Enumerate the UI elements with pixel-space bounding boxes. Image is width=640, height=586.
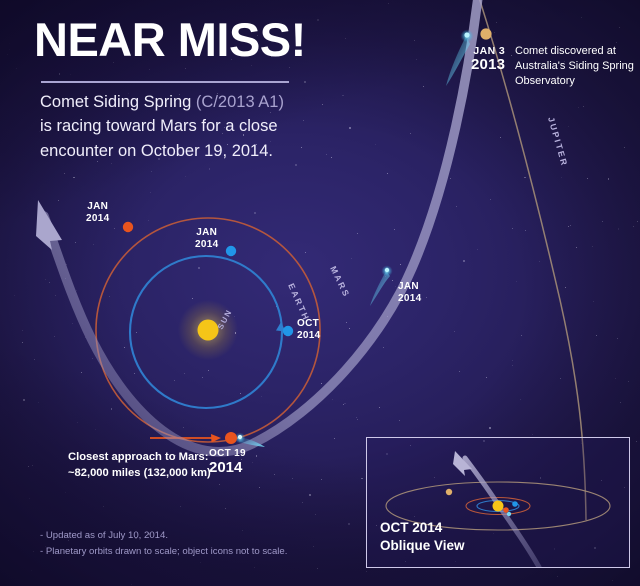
closest-approach-date-day: OCT 19 [209, 449, 246, 460]
subtitle-comet-name: Comet Siding Spring [40, 93, 196, 111]
oblique-view-caption-line-1: OCT 2014 [380, 519, 465, 537]
label-mars-jan-2014-month: JAN [87, 201, 108, 212]
closest-approach-date-year: 2014 [209, 460, 246, 476]
closest-approach-date: OCT 19 2014 [209, 449, 246, 475]
oblique-view-caption-line-2: Oblique View [380, 537, 465, 555]
footnote-updated: - Updated as of July 10, 2014. [40, 528, 287, 544]
closest-approach-text: Closest approach to Mars: ~82,000 miles … [68, 450, 211, 482]
subtitle-line-2: is racing toward Mars for a close [40, 117, 278, 135]
label-earth-oct-2014-month: OCT [297, 318, 319, 329]
sun-body [198, 320, 219, 341]
discovery-date-year: 2013 [471, 57, 505, 73]
marker-jupiter-jan-3-2013[interactable] [480, 28, 491, 39]
label-earth-jan-2014: JAN 2014 [195, 227, 218, 250]
label-mars-jan-2014: JAN 2014 [86, 201, 109, 224]
subtitle-line-3: encounter on October 19, 2014. [40, 142, 273, 160]
footnotes: - Updated as of July 10, 2014. - Planeta… [40, 528, 287, 560]
label-earth-jan-2014-year: 2014 [195, 239, 218, 250]
closest-approach-line-1: Closest approach to Mars: [68, 450, 211, 466]
marker-earth-oct-2014[interactable] [283, 326, 293, 336]
inset-mars [503, 507, 509, 513]
inset-comet [507, 512, 511, 516]
label-comet-jan-2014-month: JAN [398, 281, 419, 292]
discovery-date: JAN 3 2013 [471, 46, 505, 74]
inset-earth [512, 501, 518, 507]
comet-icon-jan-2014 [370, 265, 393, 306]
discovery-note: Comet discovered at Australia's Siding S… [515, 44, 639, 90]
inset-jupiter [446, 489, 452, 495]
label-comet-jan-2014-year: 2014 [398, 293, 421, 304]
page-subtitle: Comet Siding Spring (C/2013 A1) is racin… [40, 90, 370, 163]
label-comet-jan-2014: JAN 2014 [398, 281, 421, 304]
footnote-scale: - Planetary orbits drawn to scale; objec… [40, 544, 287, 560]
marker-earth-jan-2014[interactable] [226, 246, 236, 256]
label-earth-oct-2014-year: 2014 [297, 330, 320, 341]
label-mars-jan-2014-year: 2014 [86, 213, 109, 224]
earth-orbit-label: EARTH [286, 282, 312, 323]
page-title: NEAR MISS! [34, 16, 306, 63]
marker-mars-jan-2014[interactable] [123, 222, 133, 232]
label-earth-oct-2014: OCT 2014 [297, 318, 320, 341]
closest-approach-line-2: ~82,000 miles (132,000 km) [68, 466, 211, 482]
jupiter-orbit-label: JUPITER [546, 116, 570, 168]
inset-sun [493, 501, 504, 512]
mars-orbit-label: MARS [328, 264, 352, 299]
marker-mars-oct-19-2014[interactable] [225, 432, 237, 444]
title-divider [41, 81, 289, 83]
infographic-root: MARS EARTH JUPITER SUN NEAR MISS! Comet … [0, 0, 640, 586]
oblique-view-caption: OCT 2014 Oblique View [380, 519, 465, 555]
subtitle-designation: (C/2013 A1) [196, 93, 284, 111]
label-earth-jan-2014-month: JAN [196, 227, 217, 238]
